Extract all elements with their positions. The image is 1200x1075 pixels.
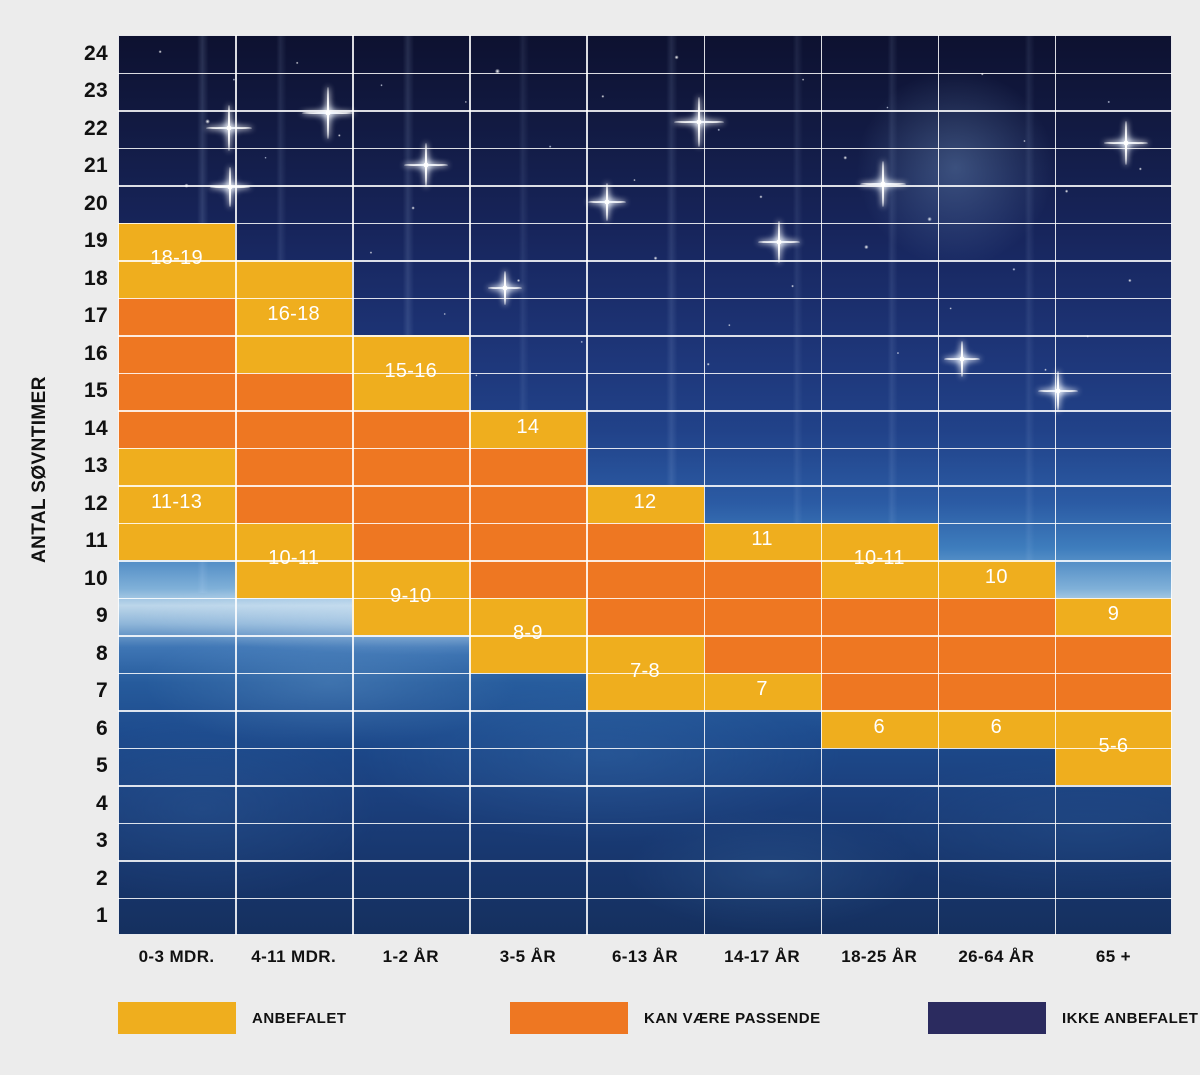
y-axis-tick-11: 11 — [62, 523, 108, 561]
y-axis-tick-14: 14 — [62, 410, 108, 448]
y-axis-tick-18: 18 — [62, 260, 108, 298]
chart-plot-area: 18-1911-1316-1810-1115-169-10148-9127-81… — [118, 35, 1172, 935]
legend-item-kan-v-re-passende[interactable]: KAN VÆRE PASSENDE — [510, 998, 821, 1038]
legend-label: KAN VÆRE PASSENDE — [644, 1010, 821, 1027]
legend-swatch — [928, 1002, 1046, 1034]
x-axis-tick-65: 65 + — [1055, 942, 1172, 972]
x-axis-tick-0-3-mdr: 0-3 MDR. — [118, 942, 235, 972]
y-axis-tick-2: 2 — [62, 860, 108, 898]
y-axis-tick-21: 21 — [62, 148, 108, 186]
legend-swatch — [510, 1002, 628, 1034]
y-axis-tick-17: 17 — [62, 298, 108, 336]
y-axis-tick-23: 23 — [62, 73, 108, 111]
y-axis-tick-12: 12 — [62, 485, 108, 523]
chart-legend: ANBEFALETKAN VÆRE PASSENDEIKKE ANBEFALET — [118, 998, 1172, 1038]
y-axis-tick-13: 13 — [62, 448, 108, 486]
x-axis-tick-4-11-mdr: 4-11 MDR. — [235, 942, 352, 972]
y-axis-tick-5: 5 — [62, 748, 108, 786]
y-axis-tick-7: 7 — [62, 673, 108, 711]
y-axis-tick-3: 3 — [62, 823, 108, 861]
y-axis-tick-15: 15 — [62, 373, 108, 411]
x-axis-tick-3-5-r: 3-5 ÅR — [469, 942, 586, 972]
y-axis-tick-4: 4 — [62, 785, 108, 823]
plot-border — [118, 35, 1172, 935]
x-axis-tick-labels: 0-3 MDR.4-11 MDR.1-2 ÅR3-5 ÅR6-13 ÅR14-1… — [118, 942, 1172, 972]
x-axis-tick-1-2-r: 1-2 ÅR — [352, 942, 469, 972]
y-axis-tick-10: 10 — [62, 560, 108, 598]
x-axis-tick-26-64-r: 26-64 ÅR — [938, 942, 1055, 972]
y-axis-tick-9: 9 — [62, 598, 108, 636]
legend-item-ikke-anbefalet[interactable]: IKKE ANBEFALET — [928, 998, 1198, 1038]
y-axis-tick-24: 24 — [62, 35, 108, 73]
y-axis-tick-19: 19 — [62, 223, 108, 261]
legend-swatch — [118, 1002, 236, 1034]
y-axis-tick-labels: 242322212019181716151413121110987654321 — [60, 35, 108, 935]
x-axis-tick-14-17-r: 14-17 ÅR — [704, 942, 821, 972]
y-axis-tick-8: 8 — [62, 635, 108, 673]
legend-label: ANBEFALET — [252, 1010, 347, 1027]
x-axis-tick-6-13-r: 6-13 ÅR — [586, 942, 703, 972]
y-axis-tick-22: 22 — [62, 110, 108, 148]
y-axis-tick-20: 20 — [62, 185, 108, 223]
legend-item-anbefalet[interactable]: ANBEFALET — [118, 998, 347, 1038]
y-axis-tick-16: 16 — [62, 335, 108, 373]
y-axis-tick-6: 6 — [62, 710, 108, 748]
y-axis-tick-1: 1 — [62, 898, 108, 936]
y-axis-title: ANTAL SØVNTIMER — [22, 300, 58, 640]
legend-label: IKKE ANBEFALET — [1062, 1010, 1198, 1027]
x-axis-tick-18-25-r: 18-25 ÅR — [821, 942, 938, 972]
